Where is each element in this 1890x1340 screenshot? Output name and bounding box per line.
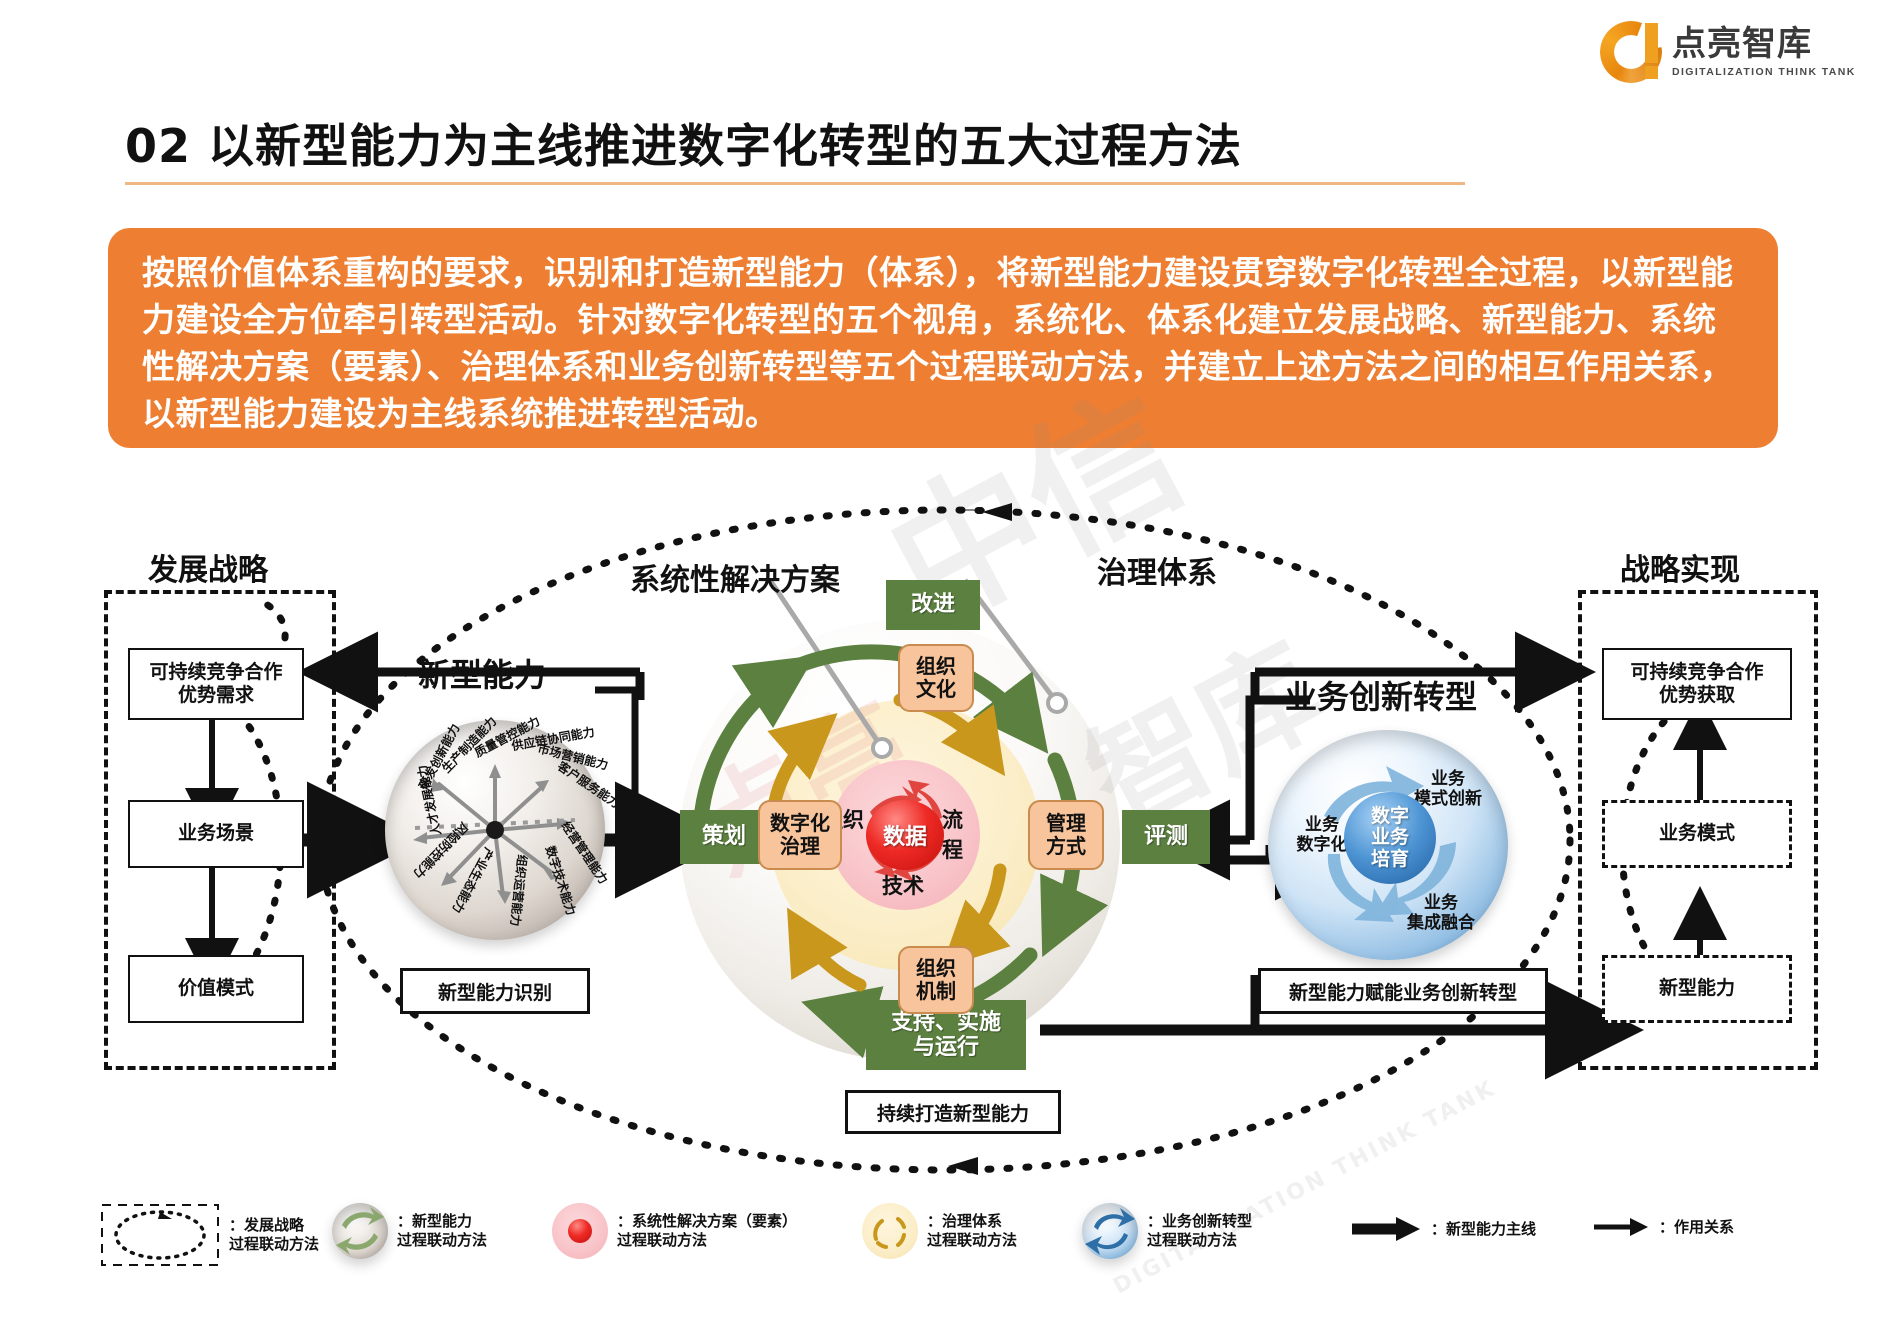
- box-business-scenario[interactable]: 业务场景: [128, 800, 304, 868]
- business-innovation-sphere: 业务 模式创新 业务 数字化 业务 集成融合 数字 业务 培育: [1268, 730, 1508, 960]
- legend-item-3: ：治理体系 过程联动方法: [862, 1203, 1017, 1259]
- heading-new-capability: 新型能力: [418, 650, 546, 696]
- legend-label-3: ：治理体系 过程联动方法: [927, 1212, 1017, 1250]
- legend-item-1: ：新型能力 过程联动方法: [332, 1203, 487, 1259]
- heading-systemic-solution: 系统性解决方案: [630, 555, 840, 599]
- innovation-item-integration: 业务 集成融合: [1398, 894, 1484, 933]
- core-center-data: 数据: [866, 800, 944, 870]
- dashed-ellipse-icon: [100, 1203, 220, 1267]
- caption-continuous-build: 持续打造新型能力: [845, 1090, 1061, 1134]
- chip-plan[interactable]: 策划: [680, 810, 768, 864]
- chip-digital-governance[interactable]: 数字化 治理: [758, 800, 842, 870]
- chip-org-mechanism[interactable]: 组织 机制: [898, 946, 974, 1014]
- legend-item-6: ：作用关系: [1592, 1215, 1734, 1239]
- thin-arrow-icon: [1592, 1215, 1650, 1239]
- grey-sphere-icon: [332, 1203, 388, 1259]
- box-sustainable-advantage-demand[interactable]: 可持续竞争合作 优势需求: [128, 648, 304, 720]
- new-capability-sphere: 研发创新能力 生产制造能力 质量管控能力 供应链协同能力 市场营销能力 客户服务…: [385, 720, 605, 940]
- legend-item-0: ：发展战略 过程联动方法: [100, 1203, 319, 1267]
- heading-business-innovation: 业务创新转型: [1285, 672, 1477, 718]
- legend-item-5: ：新型能力主线: [1350, 1215, 1536, 1243]
- legend: ：发展战略 过程联动方法 ：新型能力 过程联动方法 ：系统性解决方案（要素） 过…: [100, 1195, 1800, 1290]
- legend-label-6: ：作用关系: [1659, 1218, 1734, 1237]
- heading-governance: 治理体系: [1097, 548, 1217, 592]
- box-value-model[interactable]: 价值模式: [128, 955, 304, 1023]
- legend-item-2: ：系统性解决方案（要素） 过程联动方法: [552, 1203, 797, 1259]
- box-business-model[interactable]: 业务模式: [1602, 800, 1792, 868]
- legend-label-2: ：系统性解决方案（要素） 过程联动方法: [617, 1212, 797, 1250]
- caption-capability-identify: 新型能力识别: [400, 968, 590, 1014]
- box-new-capability-result[interactable]: 新型能力: [1602, 955, 1792, 1023]
- red-core-icon: [552, 1203, 608, 1259]
- chip-evaluate[interactable]: 评测: [1122, 810, 1210, 864]
- blue-sphere-icon: [1082, 1203, 1138, 1259]
- box-sustainable-advantage-gain[interactable]: 可持续竞争合作 优势获取: [1602, 648, 1792, 720]
- legend-label-1: ：新型能力 过程联动方法: [397, 1212, 487, 1250]
- yellow-ring-icon: [862, 1203, 918, 1259]
- core-item-tech: 技术: [882, 870, 924, 900]
- legend-label-4: ：业务创新转型 过程联动方法: [1147, 1212, 1252, 1250]
- chip-org-culture[interactable]: 组织 文化: [898, 644, 974, 712]
- legend-item-4: ：业务创新转型 过程联动方法: [1082, 1203, 1252, 1259]
- innovation-center: 数字 业务 培育: [1344, 792, 1436, 884]
- chip-improve[interactable]: 改进: [886, 580, 980, 630]
- legend-label-0: ：发展战略 过程联动方法: [229, 1216, 319, 1254]
- solution-elements-disc: 组织 流程 技术 数据: [830, 760, 980, 910]
- thick-arrow-icon: [1350, 1215, 1422, 1243]
- chip-management-mode[interactable]: 管理 方式: [1028, 800, 1104, 870]
- legend-label-5: ：新型能力主线: [1431, 1220, 1536, 1239]
- core-item-process: 流程: [942, 804, 980, 864]
- heading-strategy-realization: 战略实现: [1620, 545, 1740, 589]
- caption-enable-innovation: 新型能力赋能业务创新转型: [1258, 968, 1548, 1014]
- heading-dev-strategy: 发展战略: [148, 545, 268, 589]
